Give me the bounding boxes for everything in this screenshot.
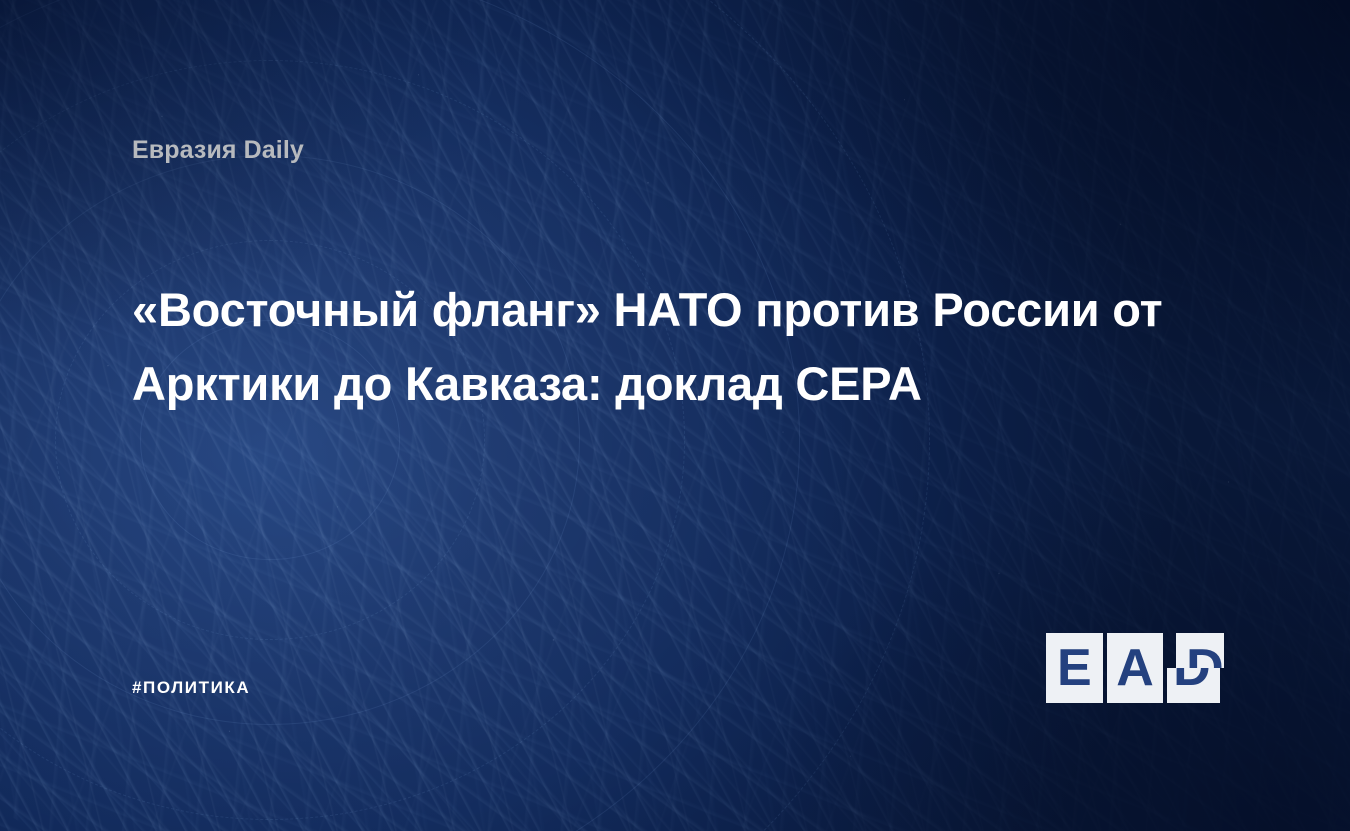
logo-tile-e: E (1046, 633, 1103, 703)
logo-tile-d: D D (1167, 633, 1224, 703)
category-hashtag: #ПОЛИТИКА (132, 678, 250, 698)
logo-letter-d: D (1176, 633, 1224, 668)
logo-letter-d: D (1167, 668, 1220, 703)
logo-tile-a: A (1107, 633, 1164, 703)
article-share-card: Евразия Daily «Восточный фланг» НАТО про… (0, 0, 1350, 831)
publication-brand: Евразия Daily (132, 136, 304, 165)
logo-letter-d-top-half: D (1176, 633, 1224, 668)
logo-letter-d-bottom-half: D (1167, 668, 1220, 703)
article-headline: «Восточный фланг» НАТО против России от … (132, 273, 1202, 421)
logo-letter-a: A (1107, 642, 1164, 694)
ead-logo: E A D D (1046, 633, 1224, 703)
logo-letter-e: E (1046, 642, 1103, 694)
